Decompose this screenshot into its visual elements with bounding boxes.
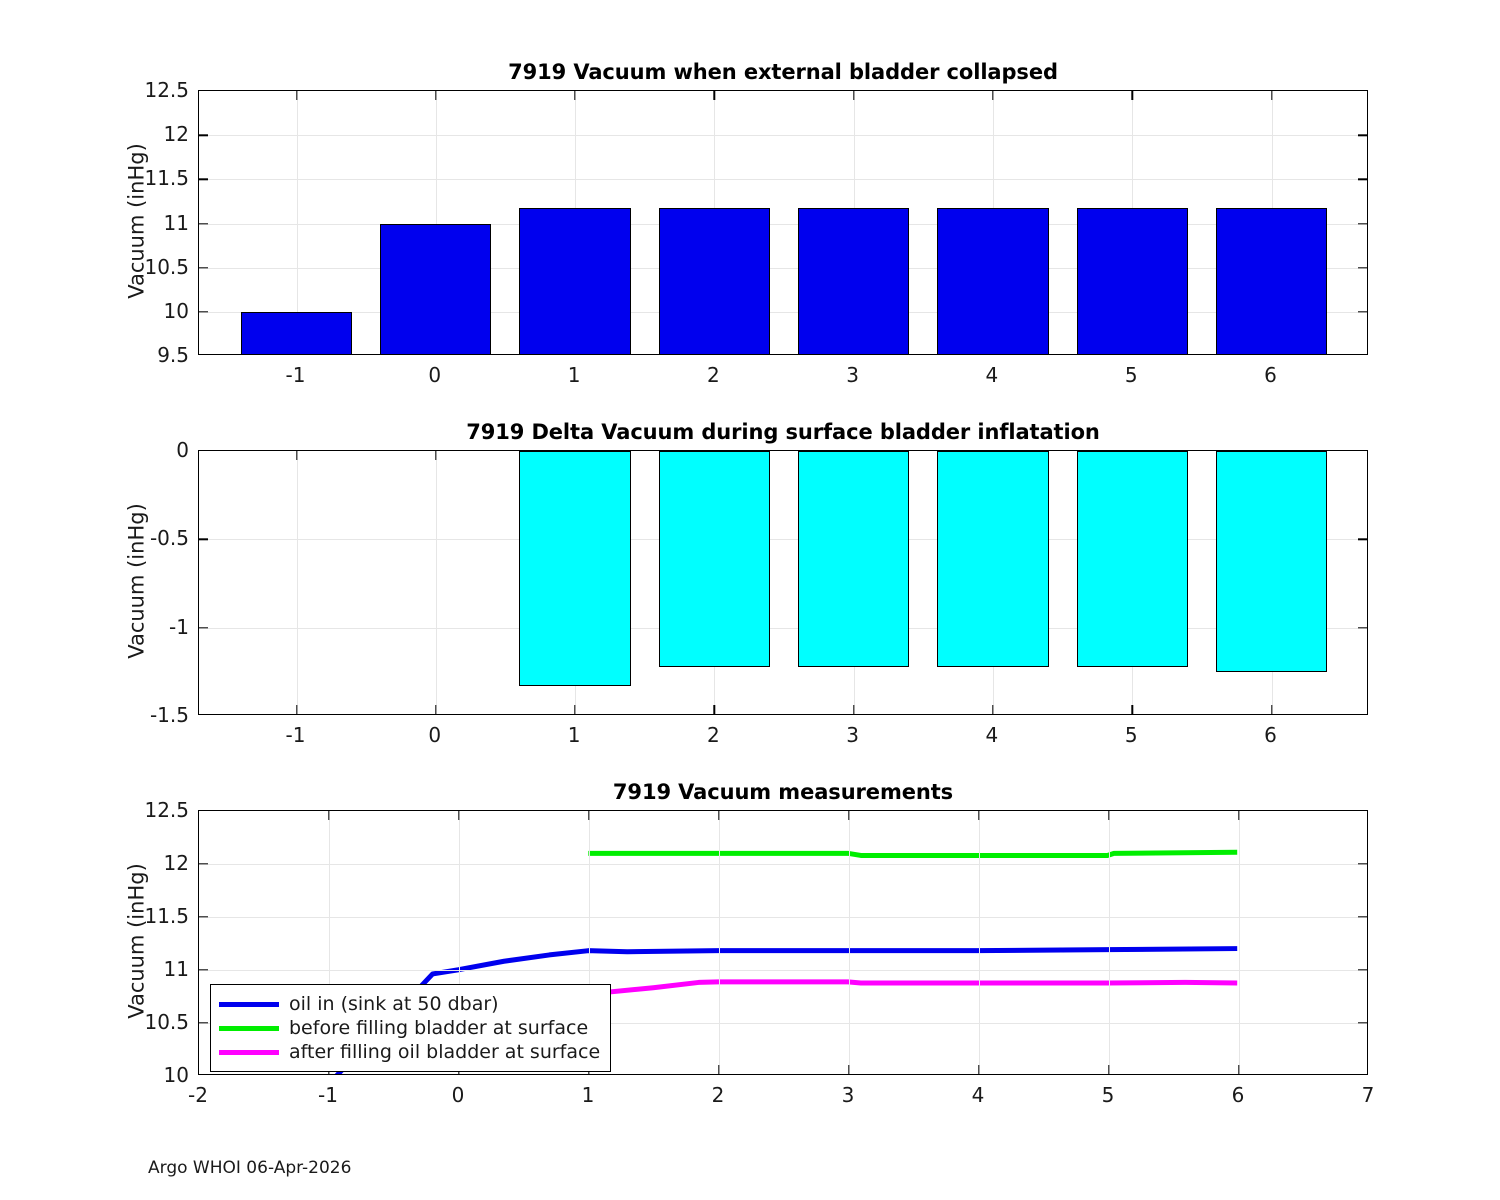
y-tick-label: 10 <box>164 1063 189 1087</box>
y-gridline <box>199 179 1367 180</box>
x-tick-mark <box>458 811 459 820</box>
x-tick-label: 0 <box>428 363 441 387</box>
chart-title: 7919 Delta Vacuum during surface bladder… <box>198 420 1368 444</box>
x-tick-mark <box>296 451 297 460</box>
y-tick-label: 12 <box>164 122 189 146</box>
y-tick-mark <box>199 223 208 224</box>
x-tick-mark <box>296 705 297 714</box>
x-tick-mark <box>992 705 993 714</box>
x-gridline <box>849 811 850 1074</box>
y-tick-mark <box>1358 627 1367 628</box>
legend-color-swatch <box>219 1050 279 1055</box>
x-tick-label: 0 <box>452 1083 465 1107</box>
y-tick-label: -0.5 <box>150 526 189 550</box>
x-tick-mark <box>978 811 979 820</box>
x-tick-label: 5 <box>1125 723 1138 747</box>
x-gridline <box>1239 811 1240 1074</box>
y-tick-mark <box>199 863 208 864</box>
y-gridline <box>199 312 1367 313</box>
legend-color-swatch <box>219 1002 279 1007</box>
y-axis-label: Vacuum (inHg) <box>124 88 148 353</box>
series-path <box>588 982 1237 994</box>
x-tick-mark <box>853 705 854 714</box>
y-tick-mark <box>1358 134 1367 135</box>
x-gridline <box>1109 811 1110 1074</box>
y-tick-mark <box>1358 267 1367 268</box>
x-tick-label: 6 <box>1264 363 1277 387</box>
chart-title: 7919 Vacuum when external bladder collap… <box>198 60 1368 84</box>
chart-legend: oil in (sink at 50 dbar)before filling b… <box>210 984 611 1072</box>
legend-item[interactable]: after filling oil bladder at surface <box>219 1040 600 1064</box>
y-tick-label: 11 <box>164 957 189 981</box>
x-tick-mark <box>1108 1065 1109 1074</box>
x-tick-mark <box>714 705 715 714</box>
y-tick-mark <box>199 134 208 135</box>
x-tick-mark <box>1271 91 1272 100</box>
x-gridline <box>719 811 720 1074</box>
x-tick-label: 7 <box>1362 1083 1375 1107</box>
bar <box>798 208 909 355</box>
bar <box>380 224 491 355</box>
x-tick-mark <box>574 705 575 714</box>
y-tick-mark <box>199 267 208 268</box>
bar <box>659 208 770 355</box>
y-tick-label: 0 <box>176 438 189 462</box>
x-tick-label: 1 <box>568 363 581 387</box>
x-tick-label: 4 <box>986 723 999 747</box>
x-tick-label: -2 <box>188 1083 208 1107</box>
bar <box>937 451 1048 667</box>
x-tick-label: 1 <box>582 1083 595 1107</box>
legend-label: after filling oil bladder at surface <box>289 1041 600 1063</box>
x-tick-mark <box>718 1065 719 1074</box>
chart-panel-delta-vacuum: 7919 Delta Vacuum during surface bladder… <box>198 450 1368 715</box>
bar <box>519 451 630 686</box>
x-tick-mark <box>435 91 436 100</box>
y-tick-mark <box>199 916 208 917</box>
x-tick-mark <box>853 91 854 100</box>
y-tick-label: 9.5 <box>157 343 189 367</box>
bar <box>1216 208 1327 355</box>
x-tick-label: 5 <box>1125 363 1138 387</box>
x-tick-mark <box>1132 91 1133 100</box>
x-tick-label: 3 <box>846 723 859 747</box>
x-tick-label: -1 <box>318 1083 338 1107</box>
bar <box>1077 208 1188 355</box>
x-tick-mark <box>328 811 329 820</box>
x-tick-label: 5 <box>1102 1083 1115 1107</box>
x-tick-mark <box>718 811 719 820</box>
x-tick-label: -1 <box>286 723 306 747</box>
x-tick-mark <box>296 91 297 100</box>
legend-label: oil in (sink at 50 dbar) <box>289 993 499 1015</box>
legend-color-swatch <box>219 1026 279 1031</box>
x-tick-mark <box>848 1065 849 1074</box>
y-tick-mark <box>1358 969 1367 970</box>
figure-canvas: 7919 Vacuum when external bladder collap… <box>0 0 1500 1200</box>
y-tick-label: 10 <box>164 299 189 323</box>
y-tick-label: 11.5 <box>144 904 189 928</box>
x-tick-mark <box>574 91 575 100</box>
y-tick-mark <box>199 539 208 540</box>
x-tick-label: 3 <box>842 1083 855 1107</box>
x-tick-label: 4 <box>986 363 999 387</box>
x-tick-mark <box>1132 705 1133 714</box>
x-tick-label: 4 <box>972 1083 985 1107</box>
x-gridline <box>979 811 980 1074</box>
plot-area <box>198 90 1368 355</box>
bar <box>798 451 909 667</box>
series-path <box>588 852 1237 855</box>
legend-item[interactable]: before filling bladder at surface <box>219 1016 600 1040</box>
y-tick-label: 12 <box>164 851 189 875</box>
plot-area <box>198 450 1368 715</box>
x-tick-mark <box>848 811 849 820</box>
legend-item[interactable]: oil in (sink at 50 dbar) <box>219 992 600 1016</box>
x-tick-label: 3 <box>846 363 859 387</box>
x-tick-mark <box>714 91 715 100</box>
chart-panel-vacuum-collapsed: 7919 Vacuum when external bladder collap… <box>198 90 1368 355</box>
x-tick-mark <box>1271 705 1272 714</box>
y-tick-mark <box>199 179 208 180</box>
y-tick-mark <box>1358 223 1367 224</box>
bar <box>1077 451 1188 667</box>
y-tick-mark <box>1358 539 1367 540</box>
bar <box>937 208 1048 355</box>
y-gridline <box>199 970 1367 971</box>
x-tick-label: -1 <box>286 363 306 387</box>
y-gridline <box>199 917 1367 918</box>
chart-panel-vacuum-measurements: 7919 Vacuum measurements Vacuum (inHg) o… <box>198 810 1368 1075</box>
x-tick-mark <box>1108 811 1109 820</box>
y-gridline <box>199 539 1367 540</box>
x-tick-label: 1 <box>568 723 581 747</box>
x-gridline <box>297 451 298 714</box>
x-tick-label: 6 <box>1264 723 1277 747</box>
y-tick-mark <box>199 311 208 312</box>
y-tick-mark <box>1358 1022 1367 1023</box>
bar <box>659 451 770 667</box>
y-tick-label: -1 <box>169 615 189 639</box>
x-tick-label: 0 <box>428 723 441 747</box>
y-tick-mark <box>199 1022 208 1023</box>
y-tick-label: 11 <box>164 211 189 235</box>
bar <box>519 208 630 355</box>
x-tick-mark <box>435 451 436 460</box>
y-tick-label: 12.5 <box>144 798 189 822</box>
bar <box>1216 451 1327 672</box>
x-tick-mark <box>978 1065 979 1074</box>
x-gridline <box>436 451 437 714</box>
x-tick-mark <box>1238 1065 1239 1074</box>
y-tick-label: 10.5 <box>144 1010 189 1034</box>
x-tick-mark <box>588 811 589 820</box>
x-tick-label: 2 <box>707 363 720 387</box>
x-tick-label: 2 <box>707 723 720 747</box>
x-tick-mark <box>435 705 436 714</box>
y-tick-label: 12.5 <box>144 78 189 102</box>
footer-credit: Argo WHOI 06-Apr-2026 <box>148 1158 351 1178</box>
chart-title: 7919 Vacuum measurements <box>198 780 1368 804</box>
y-tick-mark <box>1358 916 1367 917</box>
y-tick-label: 10.5 <box>144 255 189 279</box>
x-tick-mark <box>992 91 993 100</box>
y-tick-label: -1.5 <box>150 703 189 727</box>
y-tick-mark <box>1358 311 1367 312</box>
y-tick-mark <box>199 969 208 970</box>
bar <box>241 312 352 355</box>
x-tick-label: 6 <box>1232 1083 1245 1107</box>
y-gridline <box>199 628 1367 629</box>
y-gridline <box>199 135 1367 136</box>
y-gridline <box>199 864 1367 865</box>
y-tick-mark <box>1358 863 1367 864</box>
legend-label: before filling bladder at surface <box>289 1017 588 1039</box>
y-gridline <box>199 224 1367 225</box>
y-tick-label: 11.5 <box>144 166 189 190</box>
y-tick-mark <box>199 627 208 628</box>
x-tick-label: 2 <box>712 1083 725 1107</box>
y-axis-label: Vacuum (inHg) <box>124 448 148 713</box>
x-tick-mark <box>1238 811 1239 820</box>
y-gridline <box>199 268 1367 269</box>
y-tick-mark <box>1358 179 1367 180</box>
